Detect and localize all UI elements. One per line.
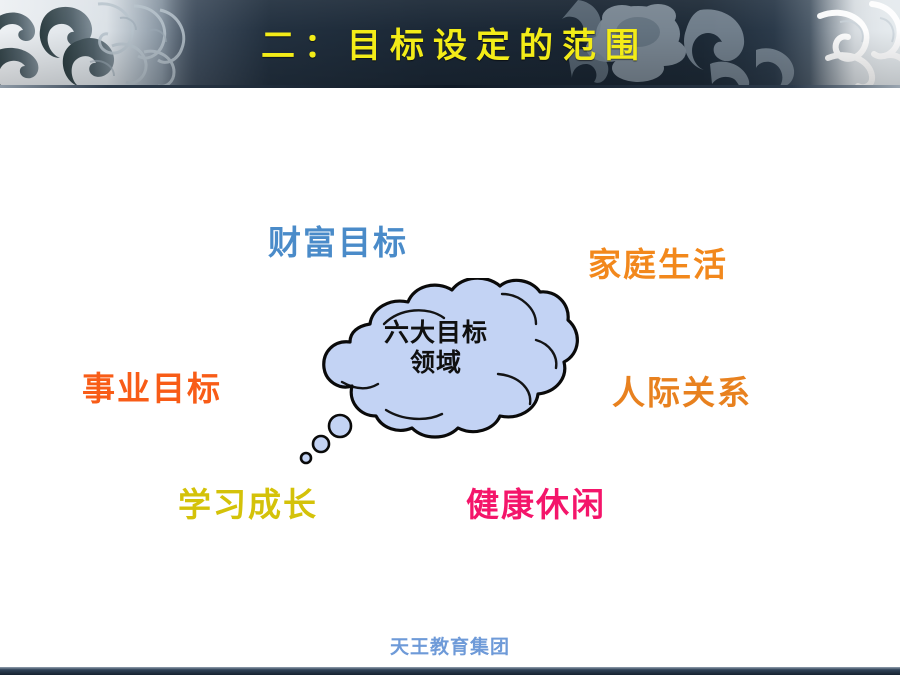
goal-label-learning: 学习成长 <box>178 478 318 526</box>
page-title: 二：目标设定的范围 <box>0 26 900 66</box>
goal-label-health: 健康休闲 <box>466 478 606 526</box>
goal-label-family: 家庭生活 <box>588 238 728 286</box>
cloud-caption-line-2: 领域 <box>336 348 536 378</box>
thought-cloud-group: 六大目标 领域 <box>288 278 608 478</box>
thought-cloud-icon <box>288 278 608 478</box>
goal-label-wealth: 财富目标 <box>268 216 408 264</box>
footer-brand: 天王教育集团 <box>0 632 900 659</box>
header-bottom-rule <box>0 85 900 88</box>
header-banner: 二：目标设定的范围 <box>0 0 900 88</box>
slide-canvas: 二：目标设定的范围 六大目标 领 <box>0 0 900 675</box>
cloud-caption: 六大目标 领域 <box>336 318 536 378</box>
goal-label-relationships: 人际关系 <box>612 366 752 414</box>
goal-label-career: 事业目标 <box>82 362 222 410</box>
slide-bottom-border <box>0 667 900 675</box>
cloud-caption-line-1: 六大目标 <box>336 318 536 348</box>
